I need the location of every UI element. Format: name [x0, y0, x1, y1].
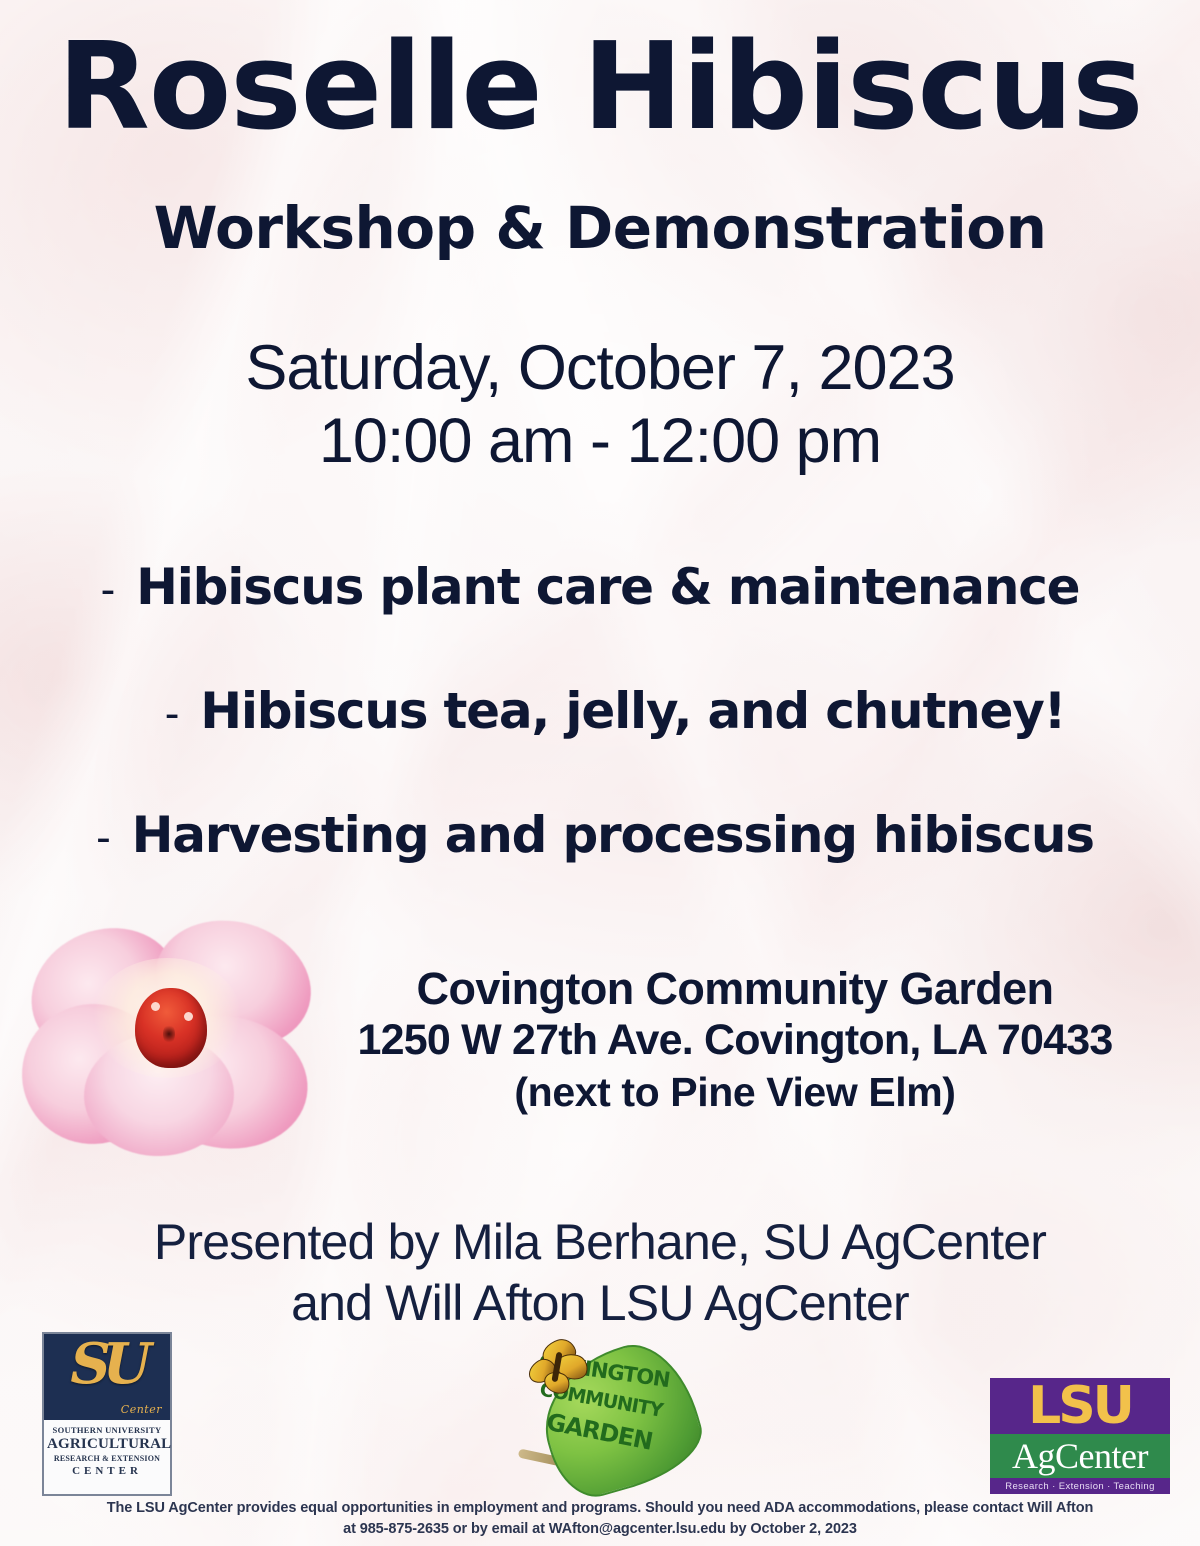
poster-title: Roselle Hibiscus	[0, 26, 1200, 151]
lsu-letters-text: LSU	[1028, 1380, 1132, 1432]
su-wordmark-line-1: SOUTHERN UNIVERSITY	[47, 1425, 167, 1435]
list-item: - Hibiscus plant care & maintenance	[0, 562, 1200, 686]
disclaimer-line-2: at 985-875-2635 or by email at WAfton@ag…	[0, 1519, 1200, 1540]
su-wordmark-line-4: CENTER	[47, 1465, 167, 1477]
event-date: Saturday, October 7, 2023	[0, 332, 1200, 405]
presenter-block: Presented by Mila Berhane, SU AgCenter a…	[0, 1212, 1200, 1334]
su-wordmark-line-3: RESEARCH & EXTENSION	[47, 1454, 167, 1463]
lsu-logo-letters-block: LSU	[990, 1378, 1170, 1434]
bullet-dash-icon: -	[101, 568, 114, 612]
list-item-label: Hibiscus plant care & maintenance	[136, 562, 1079, 612]
lsu-tagline-text: Research · Extension · Teaching	[1005, 1481, 1155, 1492]
ada-disclaimer: The LSU AgCenter provides equal opportun…	[0, 1498, 1200, 1540]
venue-note: (next to Pine View Elm)	[300, 1067, 1170, 1118]
butterfly-icon	[526, 1338, 596, 1400]
su-wordmark-line-2: AGRICULTURAL	[47, 1436, 167, 1453]
su-monogram-text: SU	[44, 1336, 170, 1392]
lsu-agcenter-text: AgCenter	[1012, 1438, 1148, 1474]
su-logo-wordmark: SOUTHERN UNIVERSITY AGRICULTURAL RESEARC…	[44, 1420, 170, 1481]
covington-community-garden-logo: COVINGTON COMMUNITY GARDEN	[512, 1338, 708, 1506]
event-time: 10:00 am - 12:00 pm	[0, 405, 1200, 478]
lsu-logo-tagline-block: Research · Extension · Teaching	[990, 1478, 1170, 1494]
venue-block: Covington Community Garden 1250 W 27th A…	[300, 962, 1170, 1118]
topic-list: - Hibiscus plant care & maintenance - Hi…	[0, 562, 1200, 934]
su-agcenter-logo: SU Center SOUTHERN UNIVERSITY AGRICULTUR…	[42, 1332, 172, 1496]
venue-address: 1250 W 27th Ave. Covington, LA 70433	[300, 1015, 1170, 1067]
flower-pollen-dot	[151, 1002, 160, 1011]
hibiscus-flower-photo	[22, 912, 318, 1156]
su-center-script: Center	[121, 1403, 162, 1416]
bullet-dash-icon: -	[165, 692, 178, 736]
list-item-label: Harvesting and processing hibiscus	[132, 810, 1094, 860]
lsu-agcenter-logo: LSU AgCenter Research · Extension · Teac…	[990, 1378, 1170, 1494]
event-datetime: Saturday, October 7, 2023 10:00 am - 12:…	[0, 332, 1200, 478]
disclaimer-line-1: The LSU AgCenter provides equal opportun…	[0, 1498, 1200, 1519]
list-item-label: Hibiscus tea, jelly, and chutney!	[200, 686, 1065, 736]
lsu-logo-agcenter-block: AgCenter	[990, 1434, 1170, 1478]
flower-pollen-dot	[184, 1012, 193, 1021]
venue-name: Covington Community Garden	[300, 962, 1170, 1015]
bullet-dash-icon: -	[96, 816, 109, 860]
presenter-line-2: and Will Afton LSU AgCenter	[0, 1273, 1200, 1334]
presenter-line-1: Presented by Mila Berhane, SU AgCenter	[0, 1212, 1200, 1273]
su-logo-monogram-block: SU Center	[44, 1334, 170, 1420]
event-poster: Roselle Hibiscus Workshop & Demonstratio…	[0, 0, 1200, 1546]
poster-subtitle: Workshop & Demonstration	[0, 198, 1200, 259]
flower-stigma	[135, 988, 207, 1068]
list-item: - Hibiscus tea, jelly, and chutney!	[0, 686, 1200, 810]
